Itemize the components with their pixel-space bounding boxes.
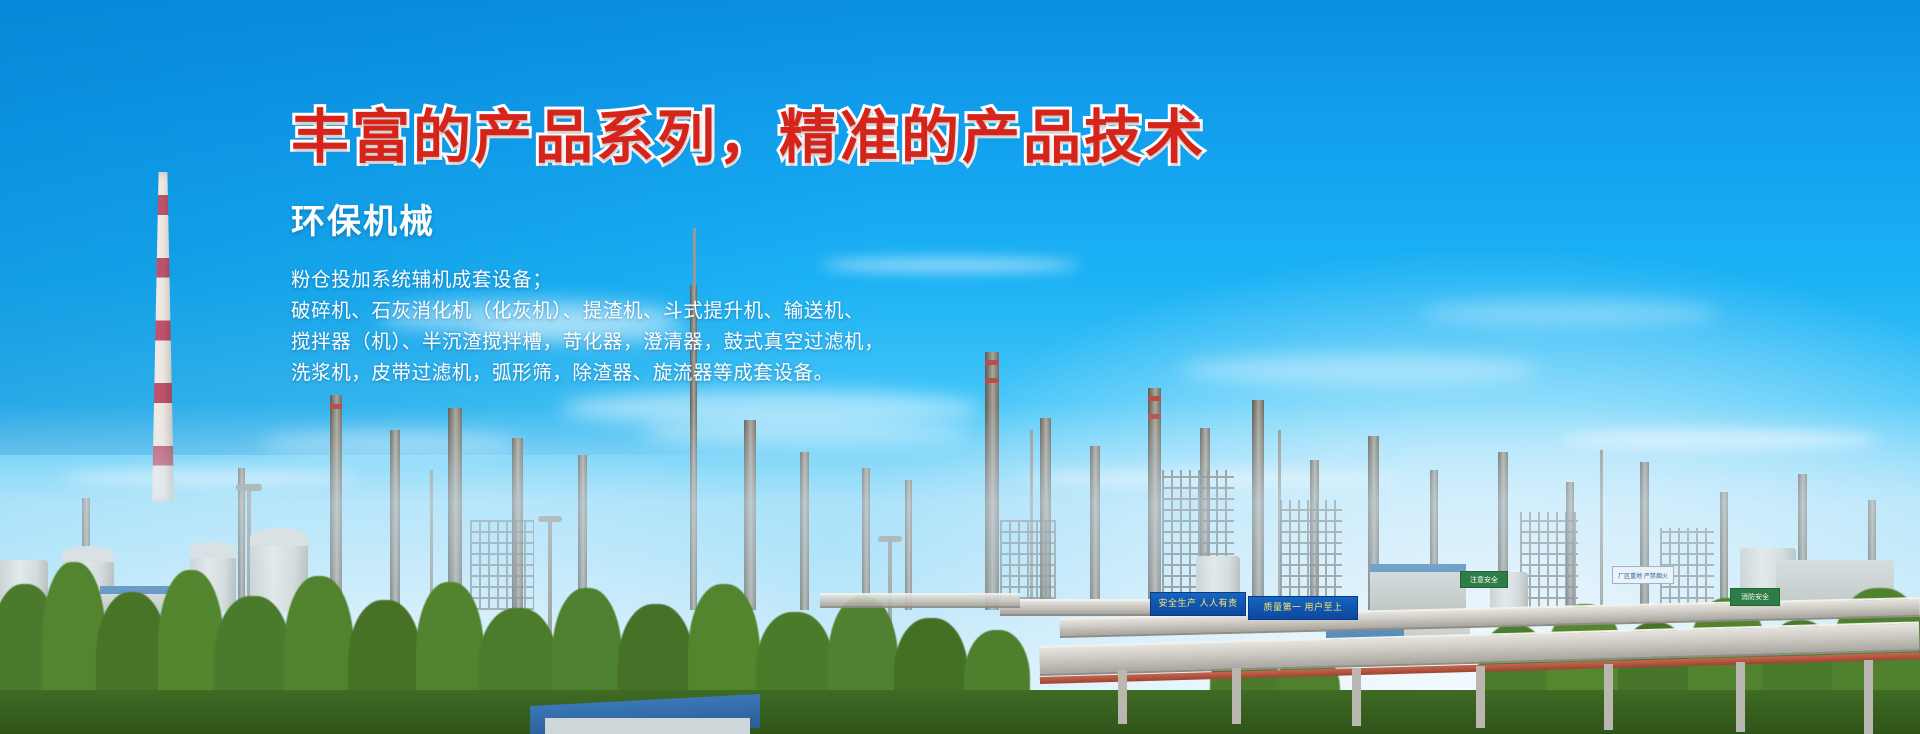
pipe-bridge-left-2 <box>820 593 1020 608</box>
blue-shed-wall <box>545 718 750 734</box>
description-line: 粉仓投加系统辅机成套设备； <box>291 265 1271 296</box>
truss-structure-2 <box>1280 500 1342 610</box>
banner-subtitle: 环保机械 <box>291 194 1271 243</box>
pipe-rack-leg <box>1604 664 1613 730</box>
hero-banner: 安全生产 人人有责 质量第一 用户至上 厂区重地 严禁烟火 消防安全 注意安全 … <box>0 0 1920 734</box>
storage-tank-1-top <box>250 528 308 546</box>
description-line: 搅拌器（机）、半沉渣搅拌槽，苛化器，澄清器，鼓式真空过滤机， <box>291 327 1271 358</box>
plant-building-3 <box>100 592 210 624</box>
plant-building-1-roof <box>1370 564 1466 572</box>
site-banner-right: 质量第一 用户至上 <box>1248 596 1358 620</box>
column-11 <box>985 352 999 610</box>
column-9 <box>862 468 870 610</box>
storage-tank-2-top <box>190 542 236 558</box>
pipe-bridge-left <box>1000 599 1150 616</box>
lamp-head-2 <box>538 516 562 522</box>
column-13 <box>1090 446 1100 610</box>
banner-description: 粉仓投加系统辅机成套设备； 破碎机、石灰消化机（化灰机）、提渣机、斗式提升机、输… <box>291 265 1271 388</box>
mast-5 <box>430 470 433 610</box>
banner-text-overlay: 丰富的产品系列，精准的产品技术 环保机械 粉仓投加系统辅机成套设备； 破碎机、石… <box>291 104 1271 389</box>
column-16 <box>1252 400 1264 610</box>
column-10 <box>905 480 912 610</box>
site-banner-left: 安全生产 人人有责 <box>1150 592 1246 616</box>
column-band-4 <box>1148 414 1161 419</box>
grass-strip <box>0 690 1920 734</box>
column-band-3 <box>1148 396 1161 401</box>
safety-sign-1: 消防安全 <box>1730 588 1780 606</box>
storage-tank-3-top <box>62 546 114 562</box>
pipe-rack-leg <box>1118 670 1127 724</box>
column-8 <box>800 452 809 610</box>
page-title: 丰富的产品系列，精准的产品技术 <box>291 104 1271 172</box>
pipe-rack-leg <box>1476 666 1485 728</box>
lamp-head-3 <box>878 536 902 542</box>
lamp-post-2 <box>548 520 552 640</box>
column-3 <box>448 408 462 610</box>
description-line: 洗浆机，皮带过滤机，弧形筛，除渣器、旋流器等成套设备。 <box>291 358 1271 389</box>
description-line: 破碎机、石灰消化机（化灰机）、提渣机、斗式提升机、输送机、 <box>291 296 1271 327</box>
plant-small-sign: 厂区重地 严禁烟火 <box>1612 566 1674 584</box>
truss-structure-3 <box>1520 512 1578 610</box>
safety-sign-2: 注意安全 <box>1460 571 1508 588</box>
pipe-rack-leg <box>1352 668 1361 726</box>
column-band-5 <box>330 404 342 409</box>
smokestack <box>152 172 174 502</box>
pipe-rack-leg <box>1736 662 1745 732</box>
column-7 <box>744 420 756 610</box>
column-5 <box>578 455 587 610</box>
pipe-rack-leg <box>1864 660 1873 734</box>
plant-building-3-roof <box>100 586 210 594</box>
column-2 <box>390 430 400 610</box>
column-1 <box>330 395 342 610</box>
storage-tank-1 <box>250 540 308 612</box>
pipe-rack-leg <box>1232 668 1241 724</box>
truss-structure-4 <box>470 520 534 610</box>
lamp-head-1 <box>236 484 262 491</box>
mast-4 <box>1600 450 1603 610</box>
column-22 <box>1640 462 1649 610</box>
storage-tank-4 <box>0 560 48 614</box>
smokestack-shaft <box>152 172 174 502</box>
column-14 <box>1148 388 1161 610</box>
column-23 <box>1720 492 1728 610</box>
